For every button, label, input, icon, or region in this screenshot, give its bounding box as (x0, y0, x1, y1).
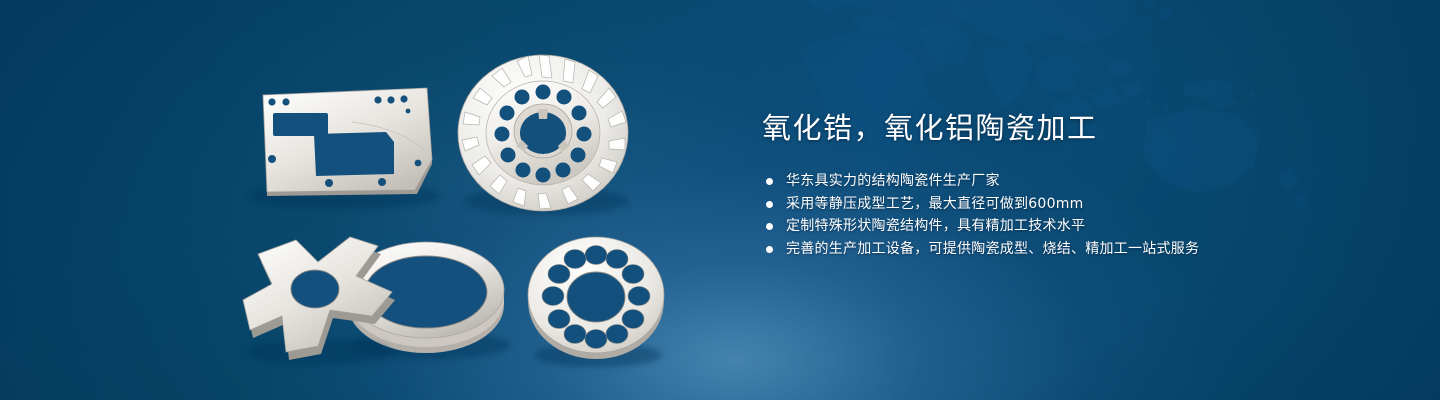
list-item: 定制特殊形状陶瓷结构件，具有精加工技术水平 (762, 215, 1382, 238)
list-item-label: 定制特殊形状陶瓷结构件，具有精加工技术水平 (786, 218, 1085, 234)
list-item-label: 采用等静压成型工艺，最大直径可做到600mm (786, 196, 1084, 212)
product-photo-group (0, 0, 720, 400)
page-title: 氧化锆，氧化铝陶瓷加工 (762, 108, 1382, 148)
ceramic-plate-with-cutouts (250, 88, 440, 209)
hero-banner: 氧化锆，氧化铝陶瓷加工 华东具实力的结构陶瓷件生产厂家 采用等静压成型工艺，最大… (0, 0, 1440, 400)
feature-list: 华东具实力的结构陶瓷件生产厂家 采用等静压成型工艺，最大直径可做到600mm 定… (762, 170, 1382, 260)
bullet-dot-icon (766, 201, 773, 208)
list-item-label: 完善的生产加工设备，可提供陶瓷成型、烧结、精加工一站式服务 (786, 241, 1199, 257)
ceramic-perforated-disc (528, 237, 664, 367)
ceramic-cross-part (243, 237, 395, 365)
ceramic-impeller-wheel (458, 55, 629, 215)
list-item: 完善的生产加工设备，可提供陶瓷成型、烧结、精加工一站式服务 (762, 238, 1382, 261)
banner-copy: 氧化锆，氧化铝陶瓷加工 华东具实力的结构陶瓷件生产厂家 采用等静压成型工艺，最大… (762, 108, 1382, 260)
list-item-label: 华东具实力的结构陶瓷件生产厂家 (786, 173, 1000, 189)
list-item: 采用等静压成型工艺，最大直径可做到600mm (762, 193, 1382, 216)
bullet-dot-icon (766, 246, 773, 253)
bullet-dot-icon (766, 178, 773, 185)
bullet-dot-icon (766, 223, 773, 230)
list-item: 华东具实力的结构陶瓷件生产厂家 (762, 170, 1382, 193)
